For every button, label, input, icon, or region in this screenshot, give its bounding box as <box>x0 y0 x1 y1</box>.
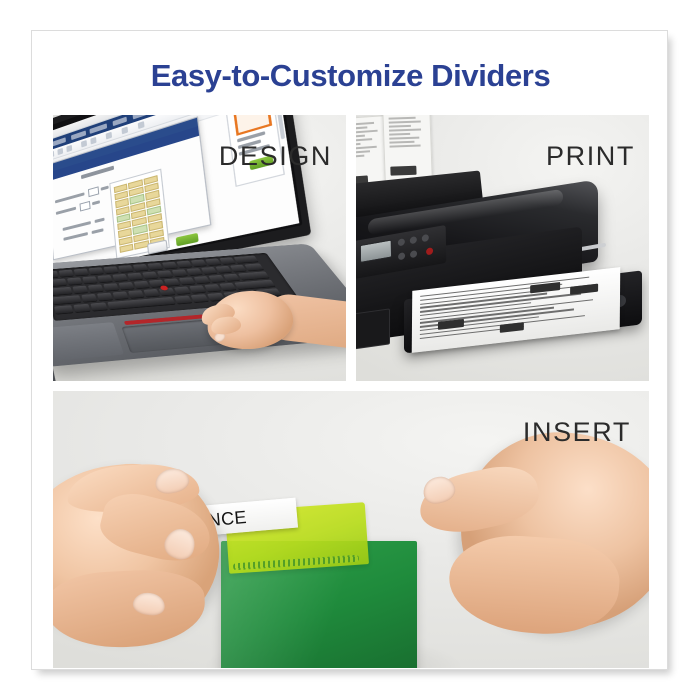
template-highlight-box <box>232 115 272 136</box>
rows-input[interactable] <box>88 186 99 197</box>
panel-print: PRINT <box>356 115 649 381</box>
front-card-slot <box>356 308 390 349</box>
panel-label-insert: INSERT <box>523 417 631 448</box>
right-hand <box>413 417 649 667</box>
left-hand-knuckles <box>53 567 207 651</box>
panel-insert: FINANCE <box>53 391 649 668</box>
columns-input[interactable] <box>80 201 91 212</box>
panel-label-design: DESIGN <box>219 141 332 172</box>
product-feature-card: Easy-to-Customize Dividers <box>31 30 668 670</box>
page-title: Easy-to-Customize Dividers <box>32 58 669 94</box>
dialog-ok-button[interactable] <box>176 233 199 247</box>
palm-rest-left <box>53 322 124 361</box>
page-root: Easy-to-Customize Dividers <box>0 0 700 700</box>
printer-lcd-screen <box>360 239 392 263</box>
hand-on-keyboard <box>195 281 346 381</box>
left-hand <box>53 443 273 668</box>
panel-design: DESIGN <box>53 115 346 381</box>
panel-label-print: PRINT <box>546 141 635 172</box>
